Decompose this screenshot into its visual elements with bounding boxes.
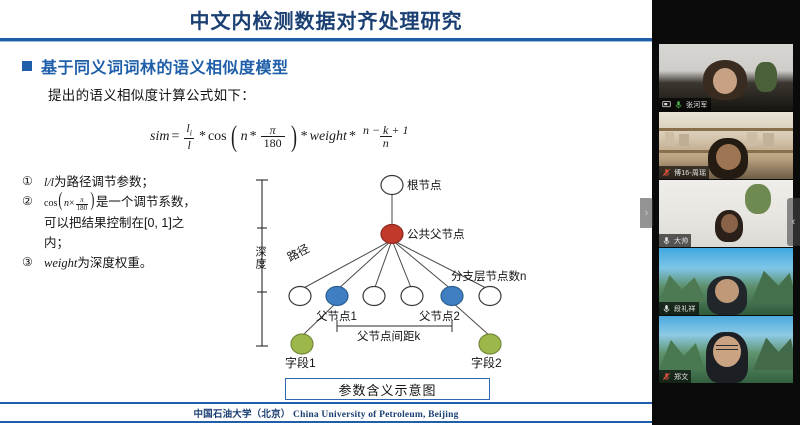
- background-plant: [755, 62, 777, 92]
- background-box: [665, 132, 674, 146]
- screen-root: 中文内检测数据对齐处理研究 基于同义词词林的语义相似度模型 提出的语义相似度计算…: [0, 0, 800, 425]
- slide-title-bar: 中文内检测数据对齐处理研究: [0, 0, 652, 38]
- participant-face: [721, 214, 738, 233]
- sub-heading-text: 提出的语义相似度计算公式如下：: [48, 84, 255, 104]
- root-node-label: 根节点: [407, 177, 442, 193]
- list-item: ② cos(n×π180)是一个调节系数， 可以把结果控制在[0, 1]之 内；: [22, 192, 252, 253]
- participant-nameplate: 张河军: [659, 98, 711, 111]
- microphone-muted-icon: [662, 372, 671, 381]
- formula-frac1-denominator: l: [184, 138, 193, 152]
- participant-name: 张河军: [686, 100, 708, 110]
- formula-inner-operator: *: [250, 129, 257, 145]
- participant-nameplate: 大帅: [659, 234, 691, 247]
- formula-frac2-numerator: π: [267, 124, 279, 137]
- root-node: [381, 176, 403, 195]
- parent-node-1: [326, 287, 348, 306]
- formula-operator-3: *: [349, 129, 356, 145]
- formula-fraction-1: li l: [183, 122, 195, 151]
- title-divider-secondary: [0, 41, 652, 42]
- tree-diagram: 根节点 公共父节点 分支层节点数n 父节点1 父节点2 父节点间距k 字段1 字…: [252, 168, 552, 368]
- list-item-text: 为路径调节参数；: [54, 175, 154, 189]
- leaf-node-field1: [291, 334, 313, 354]
- background-plant: [745, 184, 771, 214]
- list-item-expression: l/l: [44, 175, 54, 189]
- branch-node: [479, 287, 501, 306]
- formula-fraction-2: π 180: [261, 124, 285, 150]
- parent-node-2-label: 父节点2: [419, 308, 460, 324]
- participant-nameplate: 博16-周瑶: [659, 166, 709, 179]
- formula-cos: cos: [208, 129, 227, 145]
- participant-nameplate: 段礼祥: [659, 302, 699, 315]
- parent-node-1-label: 父节点1: [316, 308, 357, 324]
- depth-axis-label: 深度: [252, 246, 268, 270]
- participant-tile[interactable]: 张河军: [659, 44, 793, 111]
- background-box: [679, 134, 689, 146]
- list-item-text-line3: 内；: [44, 236, 69, 250]
- participant-tile[interactable]: 郑文 ⌄: [659, 316, 793, 383]
- list-item-text: 是一个调节系数，: [96, 195, 196, 209]
- participant-name: 大帅: [674, 236, 688, 246]
- background-shelf: [659, 128, 793, 131]
- list-item-marker: ③: [22, 253, 37, 272]
- parameter-definition-list: ① l/l为路径调节参数； ② cos(n×π180)是一个调节系数， 可以把结…: [22, 172, 252, 273]
- prev-page-button[interactable]: ›: [640, 198, 653, 228]
- formula-equals: =: [171, 129, 179, 145]
- common-parent-node: [381, 225, 403, 244]
- section-heading: 基于同义词词林的语义相似度模型: [22, 54, 289, 78]
- list-item: ③ weight为深度权重。: [22, 253, 252, 273]
- branch-node: [401, 287, 423, 306]
- participant-name: 郑文: [674, 372, 688, 382]
- background-box: [747, 132, 757, 146]
- list-item-marker: ①: [22, 172, 37, 191]
- participant-video-panel: 张河军 博16-周瑶 大帅: [652, 0, 800, 425]
- list-item-body: weight为深度权重。: [44, 253, 252, 273]
- presentation-slide: 中文内检测数据对齐处理研究 基于同义词词林的语义相似度模型 提出的语义相似度计算…: [0, 0, 652, 425]
- participant-name: 博16-周瑶: [674, 168, 706, 178]
- microphone-icon: [662, 304, 671, 313]
- list-item: ① l/l为路径调节参数；: [22, 172, 252, 192]
- similarity-formula: sim = li l * cos ( n * π 180 ) * weight …: [150, 122, 413, 151]
- formula-frac1-numerator: li: [183, 122, 195, 138]
- formula-operator-1: *: [199, 129, 206, 145]
- formula-paren-open: (: [231, 125, 237, 149]
- microphone-icon: [662, 236, 671, 245]
- next-page-button[interactable]: ‹: [787, 198, 800, 246]
- branch-node: [289, 287, 311, 306]
- microphone-muted-icon: [662, 168, 671, 177]
- branch-count-label: 分支层节点数n: [451, 268, 526, 284]
- participant-name: 段礼祥: [674, 304, 696, 314]
- list-item-expression: weight: [44, 256, 77, 270]
- diagram-caption-text: 参数含义示意图: [338, 380, 436, 399]
- list-item-body: cos(n×π180)是一个调节系数， 可以把结果控制在[0, 1]之 内；: [44, 192, 252, 253]
- footer-text: 中国石油大学（北京） China University of Petroleum…: [193, 406, 458, 420]
- background-box: [763, 133, 774, 146]
- participant-face: [713, 68, 737, 94]
- diagram-caption-box: 参数含义示意图: [285, 378, 490, 400]
- formula-paren-close: ): [291, 125, 297, 149]
- parent-node-2: [441, 287, 463, 306]
- formula-lhs: sim: [150, 129, 169, 145]
- participant-glasses: [716, 345, 738, 350]
- section-heading-label: 基于同义词词林的语义相似度模型: [41, 54, 289, 78]
- participant-nameplate: 郑文: [659, 370, 691, 383]
- list-item-body: l/l为路径调节参数；: [44, 172, 252, 192]
- field2-label: 字段2: [471, 354, 502, 371]
- formula-frac3-denominator: n: [380, 136, 392, 150]
- formula-weight: weight: [310, 129, 347, 145]
- share-screen-icon: [662, 100, 671, 109]
- slide-footer: 中国石油大学（北京） China University of Petroleum…: [0, 404, 652, 421]
- list-item-expression: cos(n×π180): [44, 198, 96, 209]
- list-item-marker: ②: [22, 192, 37, 211]
- list-item-text-line2: 可以把结果控制在[0, 1]之: [44, 216, 184, 230]
- formula-fraction-3: n − k + 1 n: [360, 124, 412, 150]
- participant-face: [713, 336, 741, 367]
- microphone-icon: [674, 100, 683, 109]
- footer-divider-bottom: [0, 421, 652, 423]
- leaf-node-field2: [479, 334, 501, 354]
- field1-label: 字段1: [285, 354, 316, 371]
- distance-label: 父节点间距k: [357, 328, 420, 344]
- participant-tile[interactable]: 大帅: [659, 180, 793, 247]
- common-parent-node-label: 公共父节点: [407, 226, 465, 242]
- formula-inner-var: n: [241, 129, 248, 145]
- branch-node: [363, 287, 385, 306]
- page-title: 中文内检测数据对齐处理研究: [190, 5, 463, 34]
- participant-face: [715, 279, 739, 303]
- list-item-text: 为深度权重。: [77, 256, 152, 270]
- formula-frac3-numerator: n − k + 1: [360, 124, 412, 137]
- formula-operator-2: *: [301, 129, 308, 145]
- formula-frac2-denominator: 180: [261, 136, 285, 150]
- participant-tile[interactable]: 博16-周瑶: [659, 112, 793, 179]
- participant-tile[interactable]: 段礼祥: [659, 248, 793, 315]
- participant-face: [716, 144, 741, 170]
- bullet-square-icon: [22, 61, 32, 71]
